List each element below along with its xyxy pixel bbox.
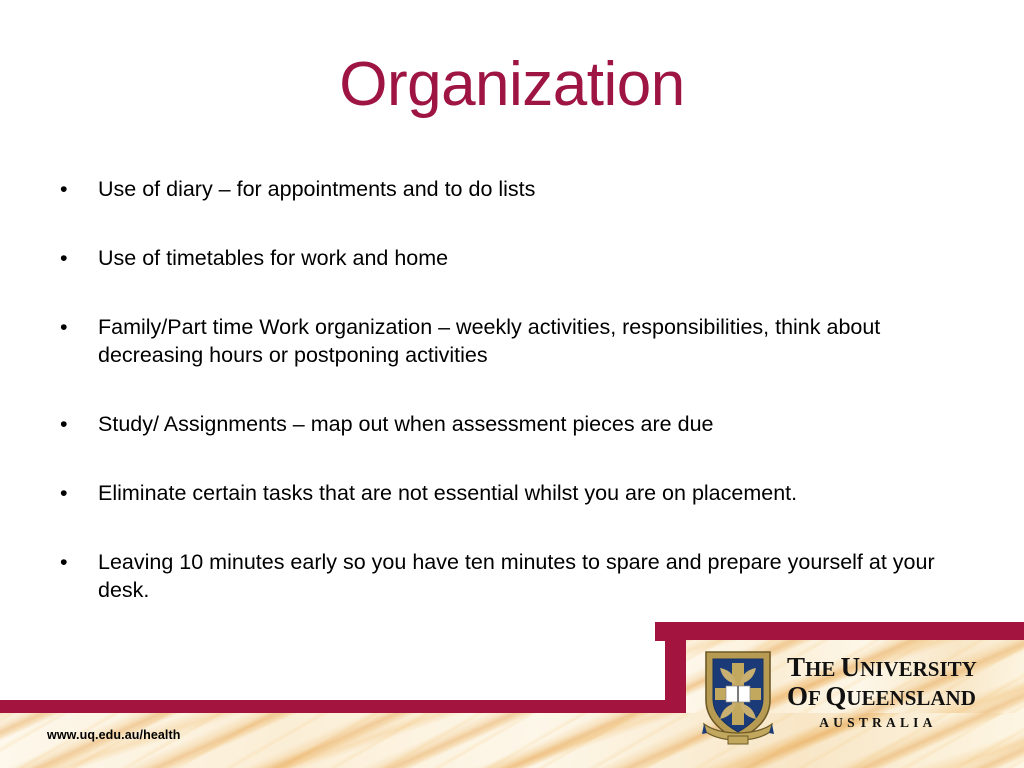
list-item-text: Study/ Assignments – map out when assess… — [98, 411, 984, 439]
uq-wordmark-line-2: OF QUEENSLAND — [787, 682, 977, 711]
wordmark-smallcaps: NIVERSITY — [860, 657, 977, 681]
wordmark-initial: T — [787, 652, 805, 682]
footer-maroon-top-bar — [655, 622, 1024, 641]
bullet-marker-icon: • — [60, 411, 68, 439]
wordmark-initial: U — [841, 652, 861, 682]
list-item-text: Eliminate certain tasks that are not ess… — [98, 480, 984, 508]
bullet-list: • Use of diary – for appointments and to… — [54, 176, 984, 605]
wordmark-initial: O — [787, 681, 808, 711]
wordmark-smallcaps: F — [808, 686, 825, 710]
bullet-marker-icon: • — [60, 314, 68, 342]
list-item: • Family/Part time Work organization – w… — [54, 314, 984, 370]
uq-shield-crest-icon — [700, 648, 776, 748]
list-item-text: Use of diary – for appointments and to d… — [98, 176, 984, 204]
wordmark-smallcaps: UEENSLAND — [846, 686, 976, 710]
list-item: • Leaving 10 minutes early so you have t… — [54, 549, 984, 605]
bullet-marker-icon: • — [60, 480, 68, 508]
uq-wordmark-line-1: THE UNIVERSITY — [787, 653, 977, 682]
bullet-marker-icon: • — [60, 245, 68, 273]
list-item: • Use of diary – for appointments and to… — [54, 176, 984, 204]
list-item-text: Use of timetables for work and home — [98, 245, 984, 273]
list-item: • Eliminate certain tasks that are not e… — [54, 480, 984, 508]
list-item: • Use of timetables for work and home — [54, 245, 984, 273]
list-item-text: Leaving 10 minutes early so you have ten… — [98, 549, 984, 605]
bullet-marker-icon: • — [60, 549, 68, 577]
uq-wordmark: THE UNIVERSITY OF QUEENSLAND AUSTRALIA — [787, 648, 977, 731]
wordmark-smallcaps: HE — [805, 657, 841, 681]
wordmark-initial: Q — [825, 681, 846, 711]
slide-title: Organization — [0, 52, 1024, 117]
list-item: • Study/ Assignments – map out when asse… — [54, 411, 984, 439]
uq-logo: THE UNIVERSITY OF QUEENSLAND AUSTRALIA — [700, 648, 1000, 758]
bullet-marker-icon: • — [60, 176, 68, 204]
footer-maroon-left-bar — [0, 700, 686, 713]
uq-wordmark-country: AUSTRALIA — [787, 715, 977, 731]
list-item-text: Family/Part time Work organization – wee… — [98, 314, 984, 370]
footer-url-text: www.uq.edu.au/health — [47, 728, 181, 742]
slide-canvas: Organization • Use of diary – for appoin… — [0, 0, 1024, 768]
